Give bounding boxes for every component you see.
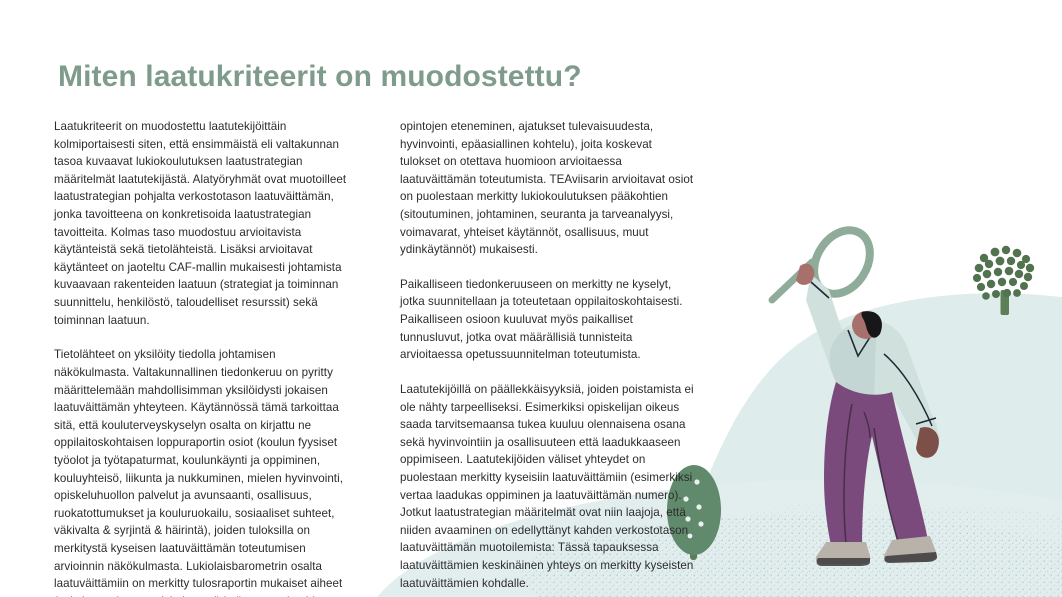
- torso: [828, 320, 939, 451]
- collar-line: [848, 330, 872, 356]
- arm-crease: [884, 354, 932, 426]
- page-title: Miten laatukriteerit on muodostettu?: [58, 58, 878, 96]
- right-shoe-sole: [884, 552, 937, 563]
- right-paragraph-2: Paikalliseen tiedonkeruuseen on merkitty…: [400, 276, 694, 364]
- dotted-tree-icon: [973, 246, 1034, 315]
- torso-shadow: [830, 330, 876, 400]
- background-hill: [690, 293, 1062, 597]
- text-columns: Laatukriteerit on muodostettu laatutekij…: [54, 118, 694, 597]
- left-shoe-sole: [817, 558, 870, 566]
- right-paragraph-1: opintojen eteneminen, ajatukset tulevais…: [400, 118, 694, 259]
- sleeve-cuff-line: [811, 282, 829, 298]
- left-paragraph-2: Tietolähteet on yksilöity tiedolla johta…: [54, 346, 348, 597]
- raised-arm: [806, 274, 859, 395]
- right-column: opintojen eteneminen, ajatukset tulevais…: [400, 118, 694, 597]
- left-paragraph-1: Laatukriteerit on muodostettu laatutekij…: [54, 118, 348, 329]
- lowered-arm: [880, 352, 937, 441]
- slide-canvas: Miten laatukriteerit on muodostettu? Laa…: [0, 0, 1062, 597]
- pocket-line: [864, 412, 870, 438]
- left-column: Laatukriteerit on muodostettu laatutekij…: [54, 118, 348, 597]
- right-hand: [916, 427, 939, 458]
- right-cuff-line: [916, 418, 936, 424]
- left-hand: [796, 264, 814, 285]
- net-hoop-icon: [803, 220, 881, 304]
- right-paragraph-3: Laatutekijöillä on päällekkäisyyksiä, jo…: [400, 381, 694, 592]
- pant-left-crease: [844, 404, 852, 544]
- hair: [861, 311, 882, 337]
- left-shoe: [816, 542, 870, 564]
- head: [852, 311, 880, 339]
- pant-right-crease: [874, 428, 898, 542]
- pants: [824, 382, 928, 550]
- right-shoe: [884, 536, 936, 562]
- person-figure: [772, 220, 939, 566]
- net-handle: [772, 262, 812, 300]
